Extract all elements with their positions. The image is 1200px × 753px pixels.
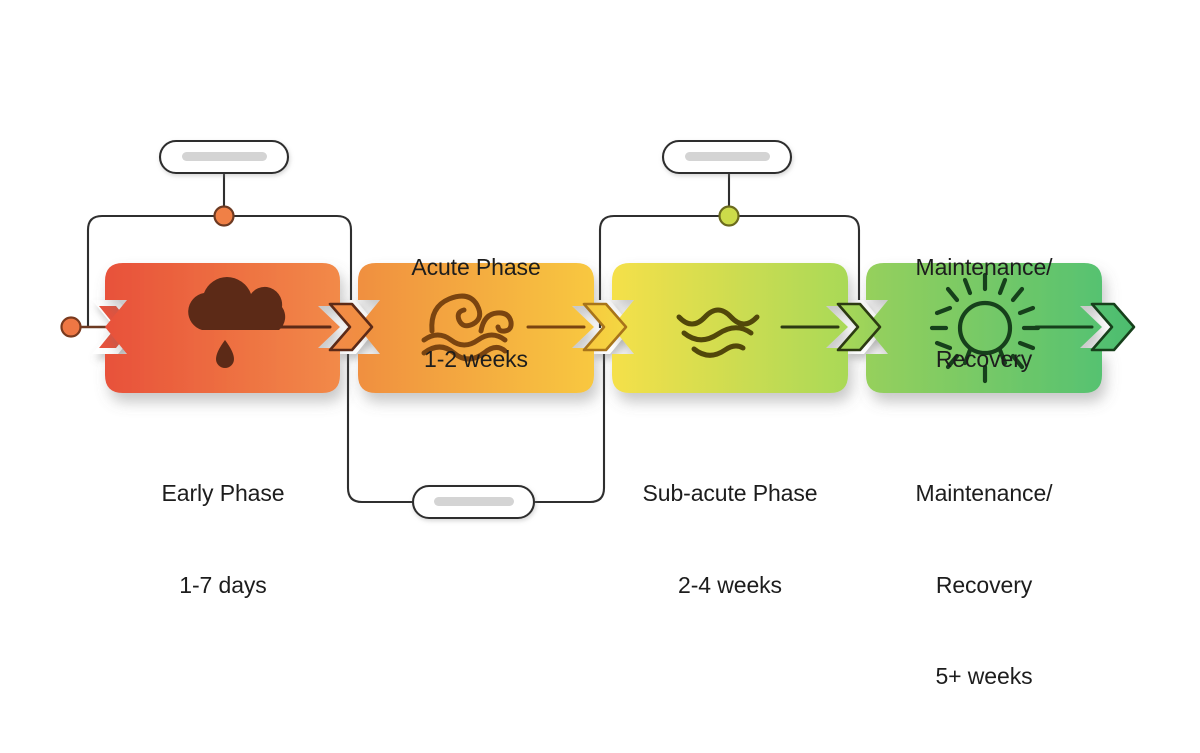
start-dot bbox=[62, 318, 81, 337]
label-early-line2: 1-7 days bbox=[105, 570, 341, 601]
label-acute-line2: 1-2 weeks bbox=[358, 344, 594, 375]
label-acute-phase: Acute Phase 1-2 weeks bbox=[358, 191, 594, 435]
label-maintenance-below-line1: Maintenance/ bbox=[866, 478, 1102, 509]
label-maintenance-below: Maintenance/ Recovery 5+ weeks bbox=[866, 417, 1102, 753]
annotation-dot-orange[interactable] bbox=[215, 207, 234, 226]
label-maintenance-above: Maintenance/ Recovery bbox=[866, 191, 1102, 435]
label-maintenance-below-line3: 5+ weeks bbox=[866, 661, 1102, 692]
label-subacute-line2: 2-4 weeks bbox=[612, 570, 848, 601]
label-early-phase: Early Phase 1-7 days bbox=[105, 417, 341, 661]
label-subacute-line1: Sub-acute Phase bbox=[612, 478, 848, 509]
label-subacute-phase: Sub-acute Phase 2-4 weeks bbox=[612, 417, 848, 661]
annotation-pill-top-1[interactable] bbox=[160, 141, 288, 173]
label-maintenance-above-line2: Recovery bbox=[866, 344, 1102, 375]
label-maintenance-above-line1: Maintenance/ bbox=[866, 252, 1102, 283]
diagram-canvas: Early Phase 1-7 days Acute Phase 1-2 wee… bbox=[0, 0, 1200, 655]
label-maintenance-below-line2: Recovery bbox=[866, 570, 1102, 601]
annotation-pill-bar bbox=[182, 152, 267, 161]
label-acute-line1: Acute Phase bbox=[358, 252, 594, 283]
annotation-pill-top-2[interactable] bbox=[663, 141, 791, 173]
label-early-line1: Early Phase bbox=[105, 478, 341, 509]
annotation-pill-bar bbox=[434, 497, 514, 506]
annotation-pill-bar bbox=[685, 152, 770, 161]
annotation-pill-bottom-1[interactable] bbox=[413, 486, 534, 518]
annotation-dot-green[interactable] bbox=[720, 207, 739, 226]
